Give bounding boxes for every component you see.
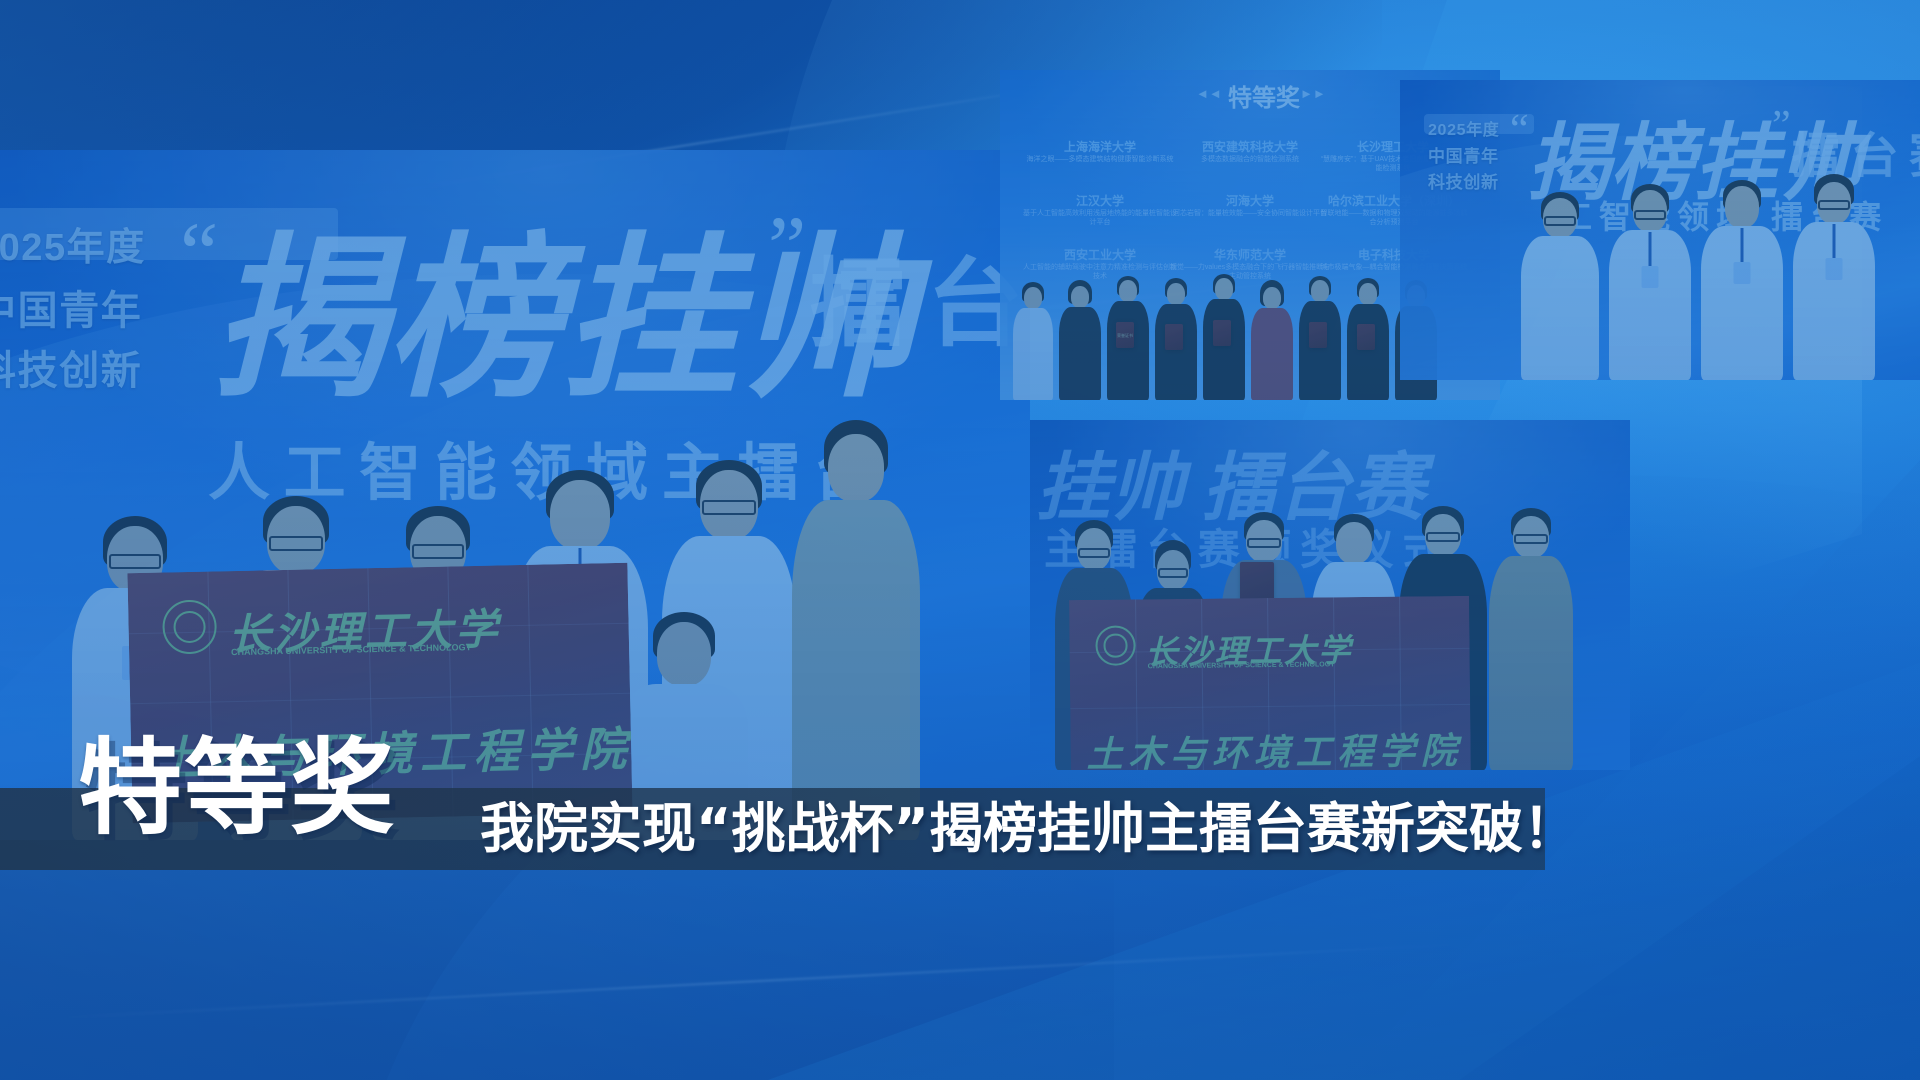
hero-banner: 2025年度 中国青年 科技创新 “ 揭榜挂帅 ” 擂台赛 人工智能领域主擂台 xyxy=(0,0,1920,1080)
caption-subtitle: 我院实现“挑战杯”揭榜挂帅主擂台赛新突破！ xyxy=(480,789,1577,869)
photo-midright-students-with-flag: 挂帅 擂台赛 主擂台赛颁奖仪式 xyxy=(1030,420,1630,770)
photo-right-faculty: 2025年度 中国青年 科技创新 “ 揭榜挂帅 ” 擂台赛 工智能领域 擂台赛 xyxy=(1400,80,1920,380)
headline-special-prize: 特等奖 xyxy=(78,736,396,840)
